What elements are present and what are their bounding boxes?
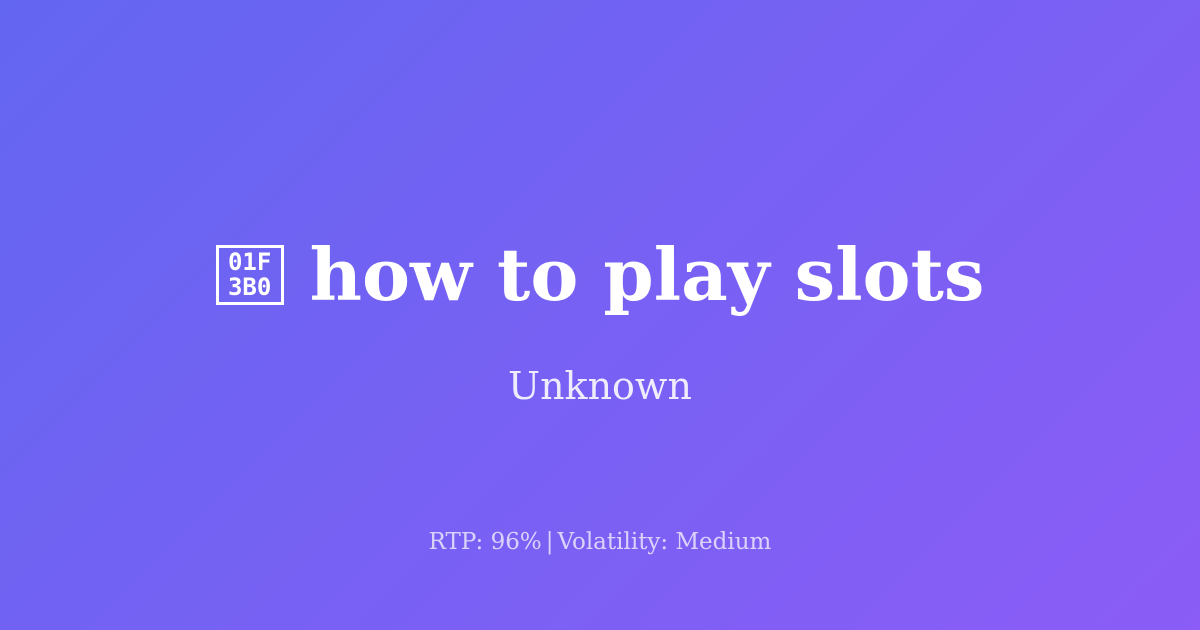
codepoint-hex-top: 01F [228, 250, 271, 275]
volatility-label: Volatility: Medium [557, 529, 771, 555]
codepoint-hex-bottom: 3B0 [228, 275, 271, 300]
title-row: 01F 3B0 how to play slots [0, 236, 1200, 314]
page-title: how to play slots [310, 236, 985, 314]
game-meta-footer: RTP: 96%|Volatility: Medium [0, 526, 1200, 558]
meta-separator: | [542, 529, 558, 555]
rtp-label: RTP: 96% [429, 529, 542, 555]
page-subtitle: Unknown [0, 362, 1200, 410]
og-preview-card: 01F 3B0 how to play slots Unknown RTP: 9… [0, 0, 1200, 630]
slot-machine-icon: 01F 3B0 [216, 245, 284, 305]
